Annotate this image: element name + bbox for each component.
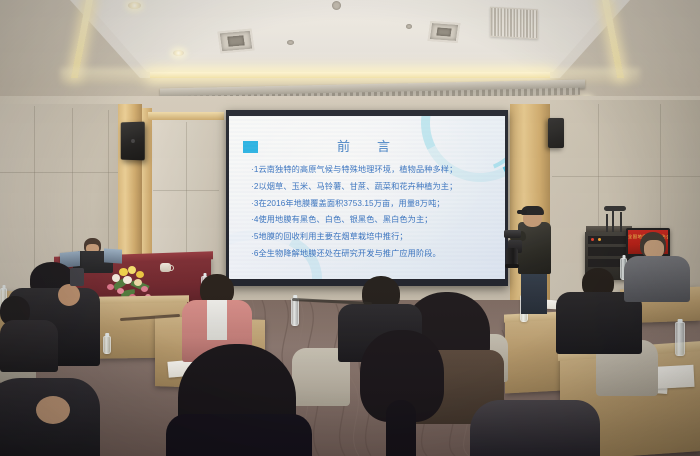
ceiling-sensor-icon — [406, 24, 412, 29]
bottle-cap — [2, 285, 5, 289]
mic-stand — [620, 212, 622, 232]
downlight-icon — [128, 2, 141, 9]
flower — [119, 268, 128, 276]
bottle-cap — [678, 319, 683, 323]
air-vent-grille — [490, 7, 538, 40]
status-led — [598, 238, 601, 241]
torso — [0, 320, 58, 372]
water-bottle — [103, 336, 111, 354]
conference-room-photo: 前 言 ·1云南独特的高原气候与特殊地理环境，植物品种多样； ·2以烟草、玉米、… — [0, 0, 700, 456]
ponytail — [386, 400, 416, 456]
flower — [141, 286, 148, 292]
projection-screen[interactable]: 前 言 ·1云南独特的高原气候与特殊地理环境，植物品种多样； ·2以烟草、玉米、… — [229, 116, 505, 279]
rack-unit — [588, 236, 630, 244]
wall-seam — [552, 176, 700, 177]
bottle-cap — [622, 255, 625, 259]
phone — [70, 268, 84, 286]
flower — [134, 279, 142, 286]
torso — [470, 400, 600, 456]
wall-speaker-right — [548, 118, 564, 148]
bottle-cap — [105, 333, 109, 337]
air-diffuser-icon — [217, 29, 254, 54]
hand — [58, 284, 80, 306]
flower — [107, 284, 114, 290]
mic-head — [604, 206, 626, 211]
lens-hood — [505, 264, 519, 268]
ceiling-sensor-icon — [287, 40, 294, 45]
wall-seam — [0, 172, 118, 173]
jacket — [518, 222, 551, 274]
water-bottle — [675, 322, 685, 356]
flower — [123, 276, 132, 284]
collar — [207, 300, 227, 340]
air-diffuser-icon — [428, 21, 461, 43]
flower — [117, 288, 124, 294]
cap-brim — [517, 210, 527, 214]
downlight-icon — [173, 50, 184, 56]
torso — [624, 256, 690, 302]
hand — [36, 396, 70, 424]
presenter-laptop-second — [104, 248, 122, 263]
water-bottle — [291, 298, 299, 326]
door-header-trim — [148, 112, 224, 120]
flower — [128, 266, 136, 274]
trousers — [521, 268, 547, 314]
mic-stand — [612, 208, 614, 232]
flower — [136, 271, 144, 278]
teacup — [160, 263, 171, 272]
power-led — [591, 238, 594, 241]
torso — [166, 414, 312, 456]
mic-stand — [606, 214, 608, 232]
screen-scanlines — [229, 116, 505, 279]
door-seam — [153, 190, 219, 191]
flower — [112, 274, 120, 282]
wall-speaker-left — [121, 122, 145, 161]
ceiling-sensor-icon — [332, 1, 341, 10]
camera-flash — [504, 230, 521, 238]
